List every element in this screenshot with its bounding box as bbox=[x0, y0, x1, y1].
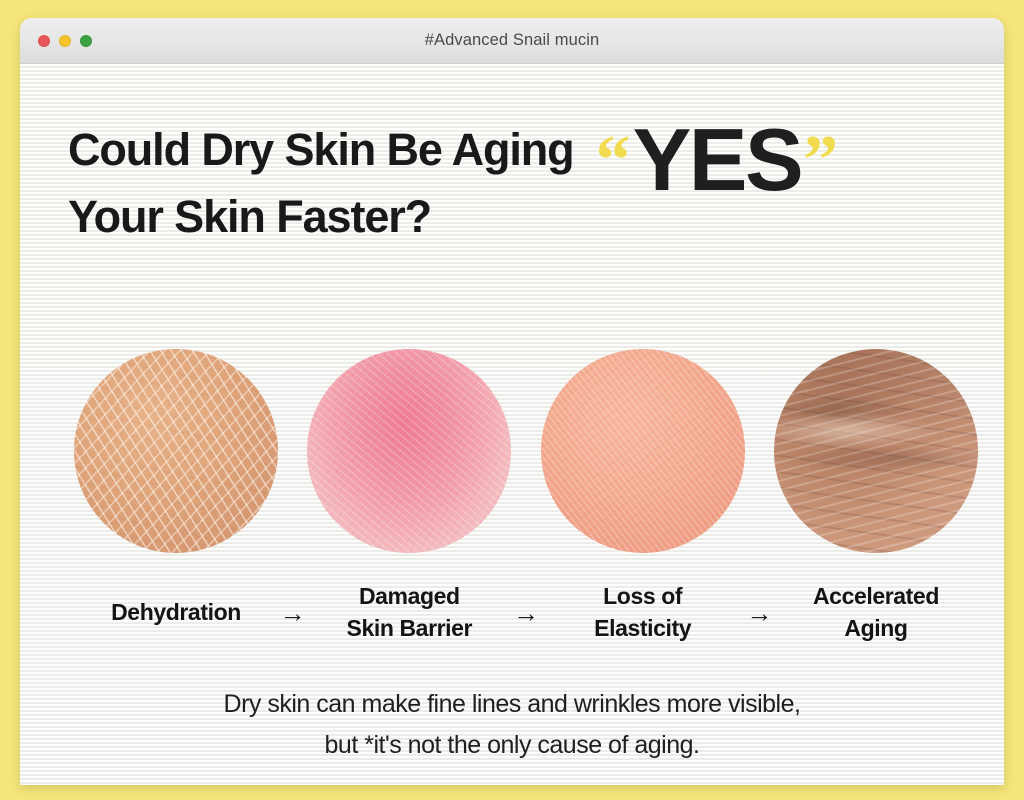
quote-close-icon: ” bbox=[803, 126, 838, 196]
hero-row: Could Dry Skin Be Aging Your Skin Faster… bbox=[68, 112, 974, 250]
stage-label-dehydration: Dehydration bbox=[74, 597, 278, 629]
window-titlebar: #Advanced Snail mucin bbox=[20, 18, 1004, 64]
answer-block: “ YES ” bbox=[596, 112, 839, 204]
traffic-light-group bbox=[38, 35, 92, 47]
minimize-window-button[interactable] bbox=[59, 35, 71, 47]
stage-image-accelerated-aging bbox=[774, 349, 978, 553]
stage-label-damaged-skin-barrier: Damaged Skin Barrier bbox=[307, 581, 511, 644]
quote-open-icon: “ bbox=[596, 126, 631, 196]
answer-text: YES bbox=[633, 116, 802, 204]
maximize-window-button[interactable] bbox=[80, 35, 92, 47]
footnote-caption: Dry skin can make fine lines and wrinkle… bbox=[20, 684, 1004, 765]
stage-images-row bbox=[74, 349, 978, 553]
arrow-right-icon-3: → bbox=[745, 600, 774, 626]
poster-content: Could Dry Skin Be Aging Your Skin Faster… bbox=[20, 64, 1004, 785]
browser-window: #Advanced Snail mucin Could Dry Skin Be … bbox=[20, 18, 1004, 785]
arrow-right-icon-2: → bbox=[511, 600, 540, 626]
close-window-button[interactable] bbox=[38, 35, 50, 47]
stage-image-dehydration bbox=[74, 349, 278, 553]
stage-image-loss-of-elasticity bbox=[541, 349, 745, 553]
page-title: Could Dry Skin Be Aging Your Skin Faster… bbox=[68, 112, 574, 250]
stage-label-accelerated-aging: Accelerated Aging bbox=[774, 581, 978, 644]
stage-labels-row: Dehydration → Damaged Skin Barrier → Los… bbox=[74, 577, 978, 649]
stage-label-loss-of-elasticity: Loss of Elasticity bbox=[541, 581, 745, 644]
arrow-right-icon-1: → bbox=[278, 600, 307, 626]
window-title: #Advanced Snail mucin bbox=[20, 31, 1004, 50]
stage-image-damaged-barrier bbox=[307, 349, 511, 553]
